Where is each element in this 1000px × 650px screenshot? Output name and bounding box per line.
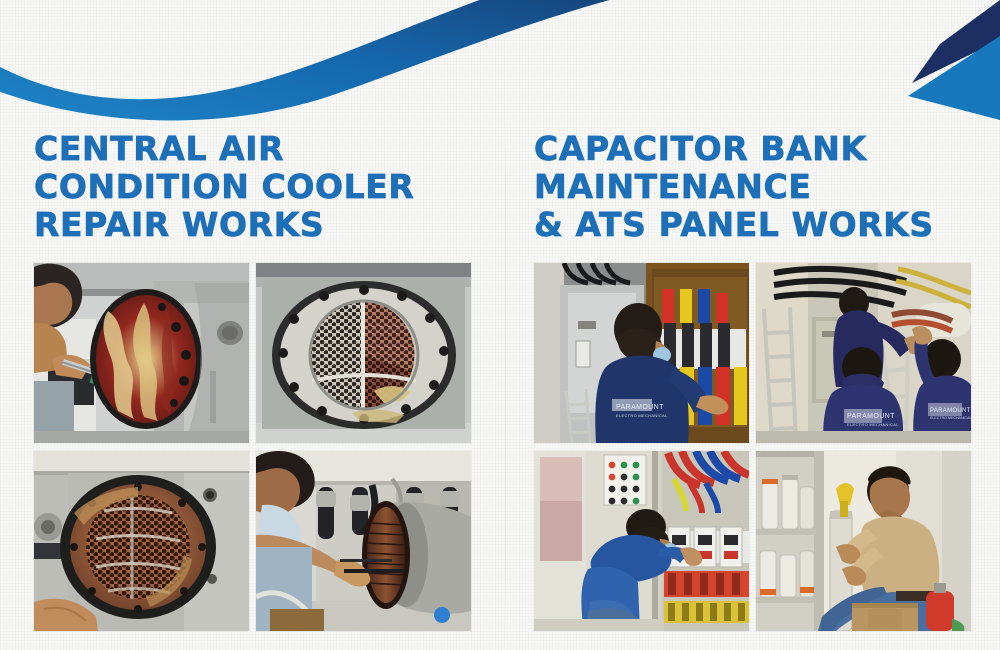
left-heading-line-2: CONDITION COOLER bbox=[34, 168, 474, 206]
svg-text:PARAMOUNT: PARAMOUNT bbox=[847, 413, 895, 420]
photo-team-overhead-cabling: PARAMOUNT ELECTRO MECHANICAL PARAMOUNT E… bbox=[756, 263, 971, 443]
column-divider bbox=[505, 120, 506, 632]
right-photo-grid: PARAMOUNT ELECTRO MECHANICAL Technician … bbox=[534, 263, 974, 631]
photo-technician-testing-capacitors: Technician in khaki shirt seated on a bo… bbox=[756, 451, 971, 631]
svg-text:ELECTRO MECHANICAL: ELECTRO MECHANICAL bbox=[930, 416, 971, 420]
left-heading-line-1: CENTRAL AIR bbox=[34, 130, 474, 168]
photo-technician-at-capacitor-panel: PARAMOUNT ELECTRO MECHANICAL Technician … bbox=[534, 263, 749, 443]
right-column: CAPACITOR BANK MAINTENANCE & ATS PANEL W… bbox=[534, 130, 974, 631]
photo-technician-cleaning-tube-sheet: Technician scraping fouled red and cream… bbox=[34, 263, 249, 443]
right-heading-line-3: & ATS PANEL WORKS bbox=[534, 206, 974, 244]
photo-rusted-tube-sheet: Rusted tube sheet with circular honeycom… bbox=[34, 451, 249, 631]
svg-text:ELECTRO MECHANICAL: ELECTRO MECHANICAL bbox=[847, 422, 899, 427]
left-heading: CENTRAL AIR CONDITION COOLER REPAIR WORK… bbox=[34, 130, 474, 244]
right-heading-line-1: CAPACITOR BANK bbox=[534, 130, 974, 168]
svg-text:PARAMOUNT: PARAMOUNT bbox=[616, 404, 664, 411]
top-decoration bbox=[0, 0, 1000, 130]
left-photo-grid: Technician scraping fouled red and cream… bbox=[34, 263, 474, 631]
brochure-page: CENTRAL AIR CONDITION COOLER REPAIR WORK… bbox=[0, 0, 1000, 650]
right-heading: CAPACITOR BANK MAINTENANCE & ATS PANEL W… bbox=[534, 130, 974, 244]
left-column: CENTRAL AIR CONDITION COOLER REPAIR WORK… bbox=[34, 130, 474, 631]
right-heading-line-2: MAINTENANCE bbox=[534, 168, 974, 206]
photo-technician-brushing-condenser-tubes: Technician in light blue shirt rod-brush… bbox=[256, 451, 471, 631]
photo-technician-ats-panel: Technician in blue shirt adjusting break… bbox=[534, 451, 749, 631]
svg-text:ELECTRO MECHANICAL: ELECTRO MECHANICAL bbox=[616, 413, 668, 418]
left-heading-line-3: REPAIR WORKS bbox=[34, 206, 474, 244]
svg-text:PARAMOUNT: PARAMOUNT bbox=[930, 408, 971, 414]
blue-swoosh-wave bbox=[0, 0, 700, 120]
photo-chiller-tube-sheet-open: Opened chiller water box showing honeyco… bbox=[256, 263, 471, 443]
